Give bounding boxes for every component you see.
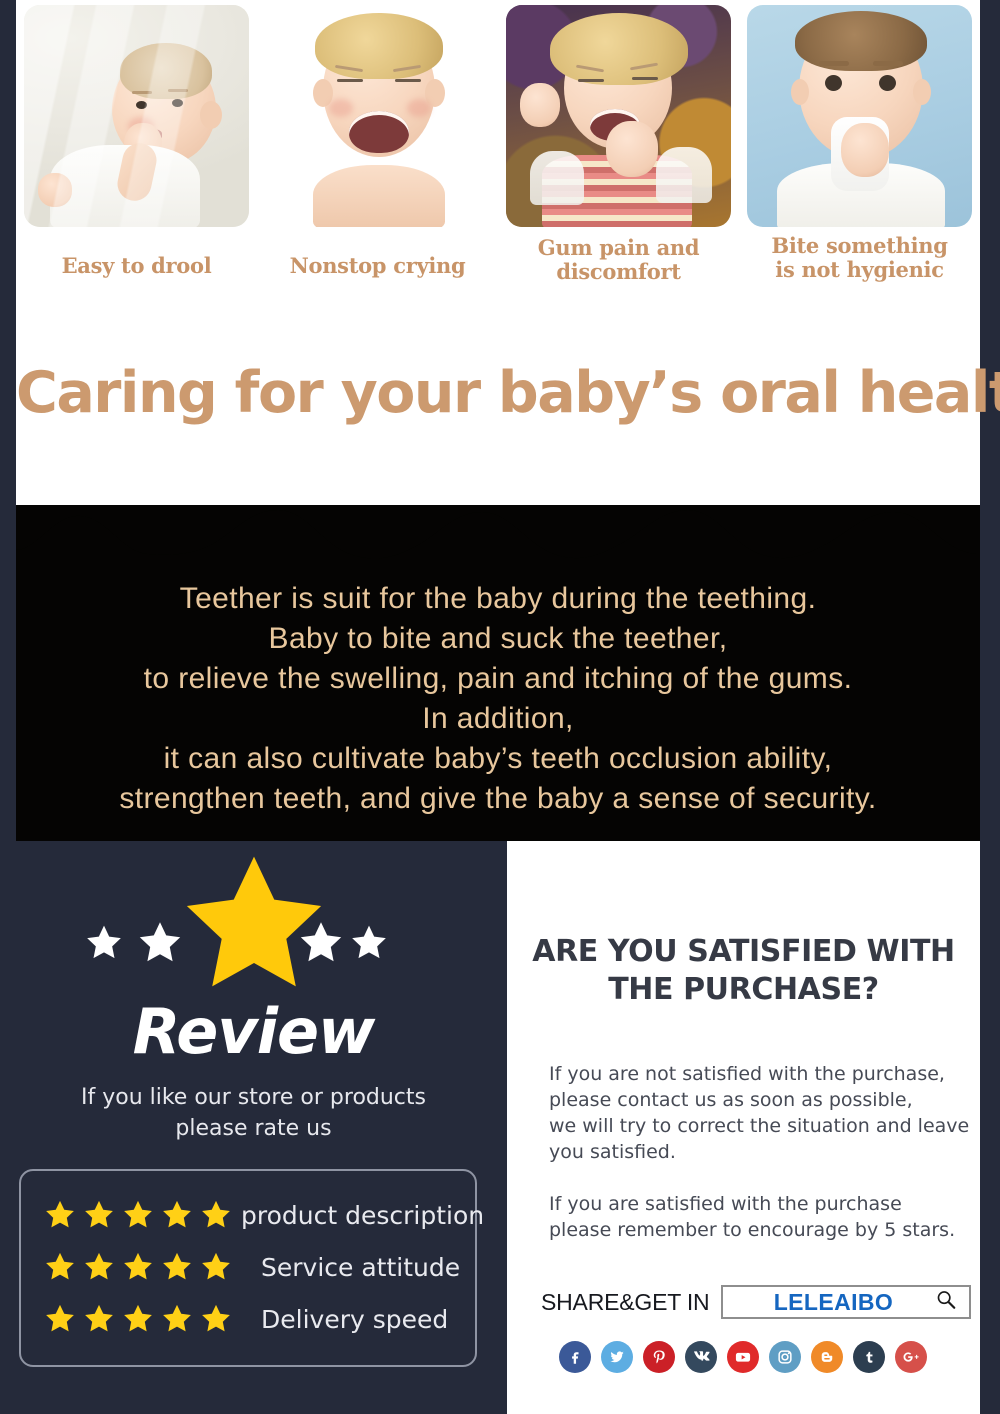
- satisfaction-paragraph-satisfied: If you are satisfied with the purchase p…: [507, 1191, 980, 1243]
- rating-label-delivery-speed: Delivery speed: [253, 1305, 448, 1334]
- banner-line-3: to relieve the swelling, pain and itchin…: [16, 659, 980, 699]
- star-icon: [199, 1302, 233, 1336]
- toddler3-hand-in-mouth: [606, 121, 658, 177]
- hero-star-white-4: [349, 923, 389, 963]
- caption-cell-2: Nonstop crying: [257, 234, 498, 324]
- star-icon: [199, 1198, 233, 1232]
- baby-head: [112, 53, 216, 165]
- share-and-get-in-row: SHARE&GET IN LELEAIBO: [507, 1285, 980, 1319]
- baby4-ear-right: [913, 79, 931, 105]
- star-icon: [82, 1302, 116, 1336]
- baby-hand-in-mouth: [124, 123, 162, 167]
- review-subtitle-line1: If you like our store or products: [0, 1082, 507, 1113]
- symptom-caption-3-line2: discomfort: [556, 259, 680, 284]
- photo-toddler-biting-hand: [506, 5, 731, 227]
- symptom-caption-3: Gum pain anddiscomfort: [538, 234, 700, 285]
- hero-star-white-3: [297, 919, 345, 967]
- toddler3-hand-raised: [520, 83, 560, 127]
- symptom-caption-4: Bite somethingis not hygienic: [771, 234, 947, 283]
- para1-line4: you satisfied.: [549, 1139, 972, 1165]
- toddler-eye-left: [337, 79, 363, 82]
- toddler-cheek-right: [407, 99, 431, 117]
- review-subtitle: If you like our store or products please…: [0, 1082, 507, 1144]
- satisfaction-title: ARE YOU SATISFIED WITH THE PURCHASE?: [507, 841, 980, 1009]
- satisfaction-title-line1: ARE YOU SATISFIED WITH: [507, 933, 980, 971]
- star-icon: [82, 1250, 116, 1284]
- scene-studio-blue: [747, 5, 972, 227]
- symptom-caption-1: Easy to drool: [62, 234, 212, 278]
- baby-hair: [120, 43, 212, 99]
- baby-brow-right: [168, 89, 188, 92]
- tumblr-icon[interactable]: [853, 1341, 885, 1373]
- top-section: Easy to drool Nonstop crying Gum pain an…: [16, 0, 980, 510]
- toddler-shoulders: [313, 165, 445, 227]
- caption-cell-4: Bite somethingis not hygienic: [739, 234, 980, 324]
- facebook-icon[interactable]: [559, 1341, 591, 1373]
- toddler3-eye-right: [632, 77, 658, 80]
- store-name-value: LELEAIBO: [774, 1289, 893, 1316]
- star-icon: [121, 1302, 155, 1336]
- satisfaction-panel: ARE YOU SATISFIED WITH THE PURCHASE? If …: [507, 841, 980, 1414]
- baby-hand-other: [38, 173, 72, 207]
- baby-ear: [200, 101, 222, 129]
- symptom-caption-4-line2: is not hygienic: [775, 257, 943, 282]
- rating-stars-product-description[interactable]: [43, 1198, 233, 1232]
- toddler-sleeve-right: [656, 147, 712, 203]
- toddler-eye-right: [395, 79, 421, 82]
- symptom-caption-2: Nonstop crying: [290, 234, 466, 278]
- hero-star-white-1: [84, 923, 124, 963]
- rating-stars-service-attitude[interactable]: [43, 1250, 253, 1284]
- baby-arm: [114, 140, 159, 204]
- star-icon: [43, 1250, 77, 1284]
- banner-line-2: Baby to bite and suck the teether,: [16, 619, 980, 659]
- rating-row-delivery-speed[interactable]: Delivery speed: [43, 1293, 475, 1345]
- toddler3-hair: [550, 13, 688, 85]
- teether-description-text: Teether is suit for the baby during the …: [16, 579, 980, 819]
- scene-bedding: [24, 5, 249, 227]
- baby4-hair: [795, 11, 927, 71]
- baby4-eye-right: [879, 75, 896, 91]
- store-search-input[interactable]: LELEAIBO: [721, 1285, 971, 1319]
- rating-criteria-box: product description Service attitude: [19, 1169, 477, 1367]
- googleplus-icon[interactable]: [895, 1341, 927, 1373]
- review-panel: Review If you like our store or products…: [0, 841, 507, 1414]
- baby-body: [50, 145, 200, 227]
- instagram-icon[interactable]: [769, 1341, 801, 1373]
- baby4-brow-right: [873, 61, 903, 66]
- share-label: SHARE&GET IN: [541, 1289, 709, 1316]
- banner-line-5: it can also cultivate baby’s teeth occlu…: [16, 739, 980, 779]
- magnifier-icon[interactable]: [935, 1289, 957, 1316]
- youtube-icon[interactable]: [727, 1341, 759, 1373]
- page-headline: Caring for your baby’s oral health: [16, 360, 980, 426]
- para1-line3: we will try to correct the situation and…: [549, 1113, 972, 1139]
- photo-cell-1: [16, 0, 257, 232]
- baby-mouth: [140, 129, 162, 141]
- review-title: Review: [0, 995, 507, 1068]
- wave-edge-decoration: [16, 504, 980, 564]
- baby-cheek: [128, 117, 154, 135]
- star-icon: [160, 1302, 194, 1336]
- symptom-caption-4-line1: Bite something: [771, 233, 947, 258]
- toddler-mouth-open: [349, 111, 409, 153]
- pinterest-icon[interactable]: [643, 1341, 675, 1373]
- baby4-ear-left: [791, 79, 809, 105]
- toddler-sleeve-left: [530, 151, 584, 205]
- baby4-eye-left: [825, 75, 842, 91]
- caption-cell-3: Gum pain anddiscomfort: [498, 234, 739, 324]
- photo-cell-2: [257, 0, 498, 232]
- rating-label-service-attitude: Service attitude: [253, 1253, 460, 1282]
- scene-white: [265, 5, 490, 227]
- toddler-cheek-left: [329, 99, 353, 117]
- baby4-hand: [841, 123, 889, 177]
- baby-eye-left: [136, 101, 147, 109]
- star-icon: [121, 1198, 155, 1232]
- social-links-row: [507, 1341, 980, 1373]
- symptom-caption-3-line1: Gum pain and: [538, 235, 700, 260]
- baby4-brow-left: [819, 61, 849, 66]
- symptom-caption-row: Easy to drool Nonstop crying Gum pain an…: [16, 234, 980, 324]
- star-icon: [121, 1250, 155, 1284]
- satisfaction-title-line2: THE PURCHASE?: [507, 971, 980, 1009]
- satisfaction-paragraph-not-satisfied: If you are not satisfied with the purcha…: [507, 1061, 980, 1165]
- rating-row-service-attitude[interactable]: Service attitude: [43, 1241, 475, 1293]
- para2-line1: If you are satisfied with the purchase: [549, 1191, 972, 1217]
- review-subtitle-line2: please rate us: [0, 1113, 507, 1144]
- star-icon: [43, 1198, 77, 1232]
- baby-eye-right: [172, 99, 183, 107]
- para1-line1: If you are not satisfied with the purcha…: [549, 1061, 972, 1087]
- star-icon: [43, 1302, 77, 1336]
- star-icon: [160, 1198, 194, 1232]
- scene-warm-bokeh: [506, 5, 731, 227]
- blogger-icon[interactable]: [811, 1341, 843, 1373]
- para2-line2: please remember to encourage by 5 stars.: [549, 1217, 972, 1243]
- toddler-hair: [315, 13, 443, 79]
- teether-description-banner: Teether is suit for the baby during the …: [16, 505, 980, 841]
- star-icon: [199, 1250, 233, 1284]
- vk-icon[interactable]: [685, 1341, 717, 1373]
- star-icon: [160, 1250, 194, 1284]
- toddler3-eye-left: [578, 79, 604, 82]
- rating-stars-delivery-speed[interactable]: [43, 1302, 253, 1336]
- symptom-photo-strip: [16, 0, 980, 232]
- para1-line2: please contact us as soon as possible,: [549, 1087, 972, 1113]
- baby-brow-left: [132, 91, 152, 94]
- twitter-icon[interactable]: [601, 1341, 633, 1373]
- rating-label-product-description: product description: [233, 1201, 484, 1230]
- hero-star-white-2: [136, 919, 184, 967]
- banner-line-4: In addition,: [16, 699, 980, 739]
- photo-cell-4: [739, 0, 980, 232]
- photo-baby-biting-cloth: [747, 5, 972, 227]
- photo-cell-3: [498, 0, 739, 232]
- photo-baby-lying-chewing-hand: [24, 5, 249, 227]
- photo-toddler-crying: [265, 5, 490, 227]
- product-listing-page: Easy to drool Nonstop crying Gum pain an…: [0, 0, 1000, 1414]
- banner-line-6: strengthen teeth, and give the baby a se…: [16, 779, 980, 819]
- banner-line-1: Teether is suit for the baby during the …: [16, 579, 980, 619]
- caption-cell-1: Easy to drool: [16, 234, 257, 324]
- rating-row-product-description[interactable]: product description: [43, 1189, 475, 1241]
- review-hero-stars: [0, 849, 507, 999]
- star-icon: [82, 1198, 116, 1232]
